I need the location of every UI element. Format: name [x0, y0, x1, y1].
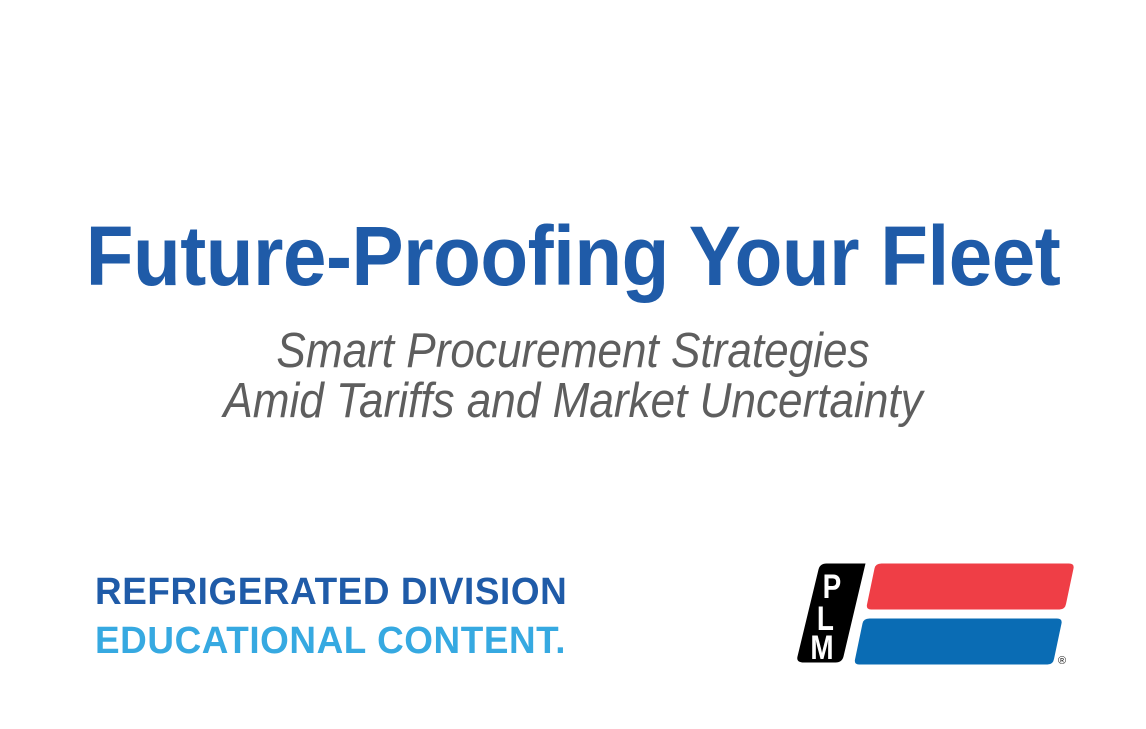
plm-logo: P L M ®: [771, 560, 1076, 668]
kicker-block: REFRIGERATED DIVISION EDUCATIONAL CONTEN…: [95, 568, 582, 666]
plm-bar-red: [867, 564, 1074, 610]
kicker-content-label: EDUCATIONAL CONTENT.: [95, 617, 567, 666]
registered-trademark-icon: ®: [1058, 655, 1066, 667]
slide-title: Future-Proofing Your Fleet: [40, 214, 1106, 298]
kicker-division-label: REFRIGERATED DIVISION: [95, 568, 567, 617]
plm-bar-blue: [855, 619, 1062, 665]
slide-canvas: Future-Proofing Your Fleet Smart Procure…: [0, 0, 1146, 729]
subtitle-block: Smart Procurement Strategies Amid Tariff…: [0, 326, 1146, 426]
plm-letter-m: M: [810, 628, 833, 666]
subtitle-line-2: Amid Tariffs and Market Uncertainty: [57, 376, 1088, 426]
subtitle-line-1: Smart Procurement Strategies: [57, 326, 1088, 376]
title-block: Future-Proofing Your Fleet: [0, 214, 1146, 298]
